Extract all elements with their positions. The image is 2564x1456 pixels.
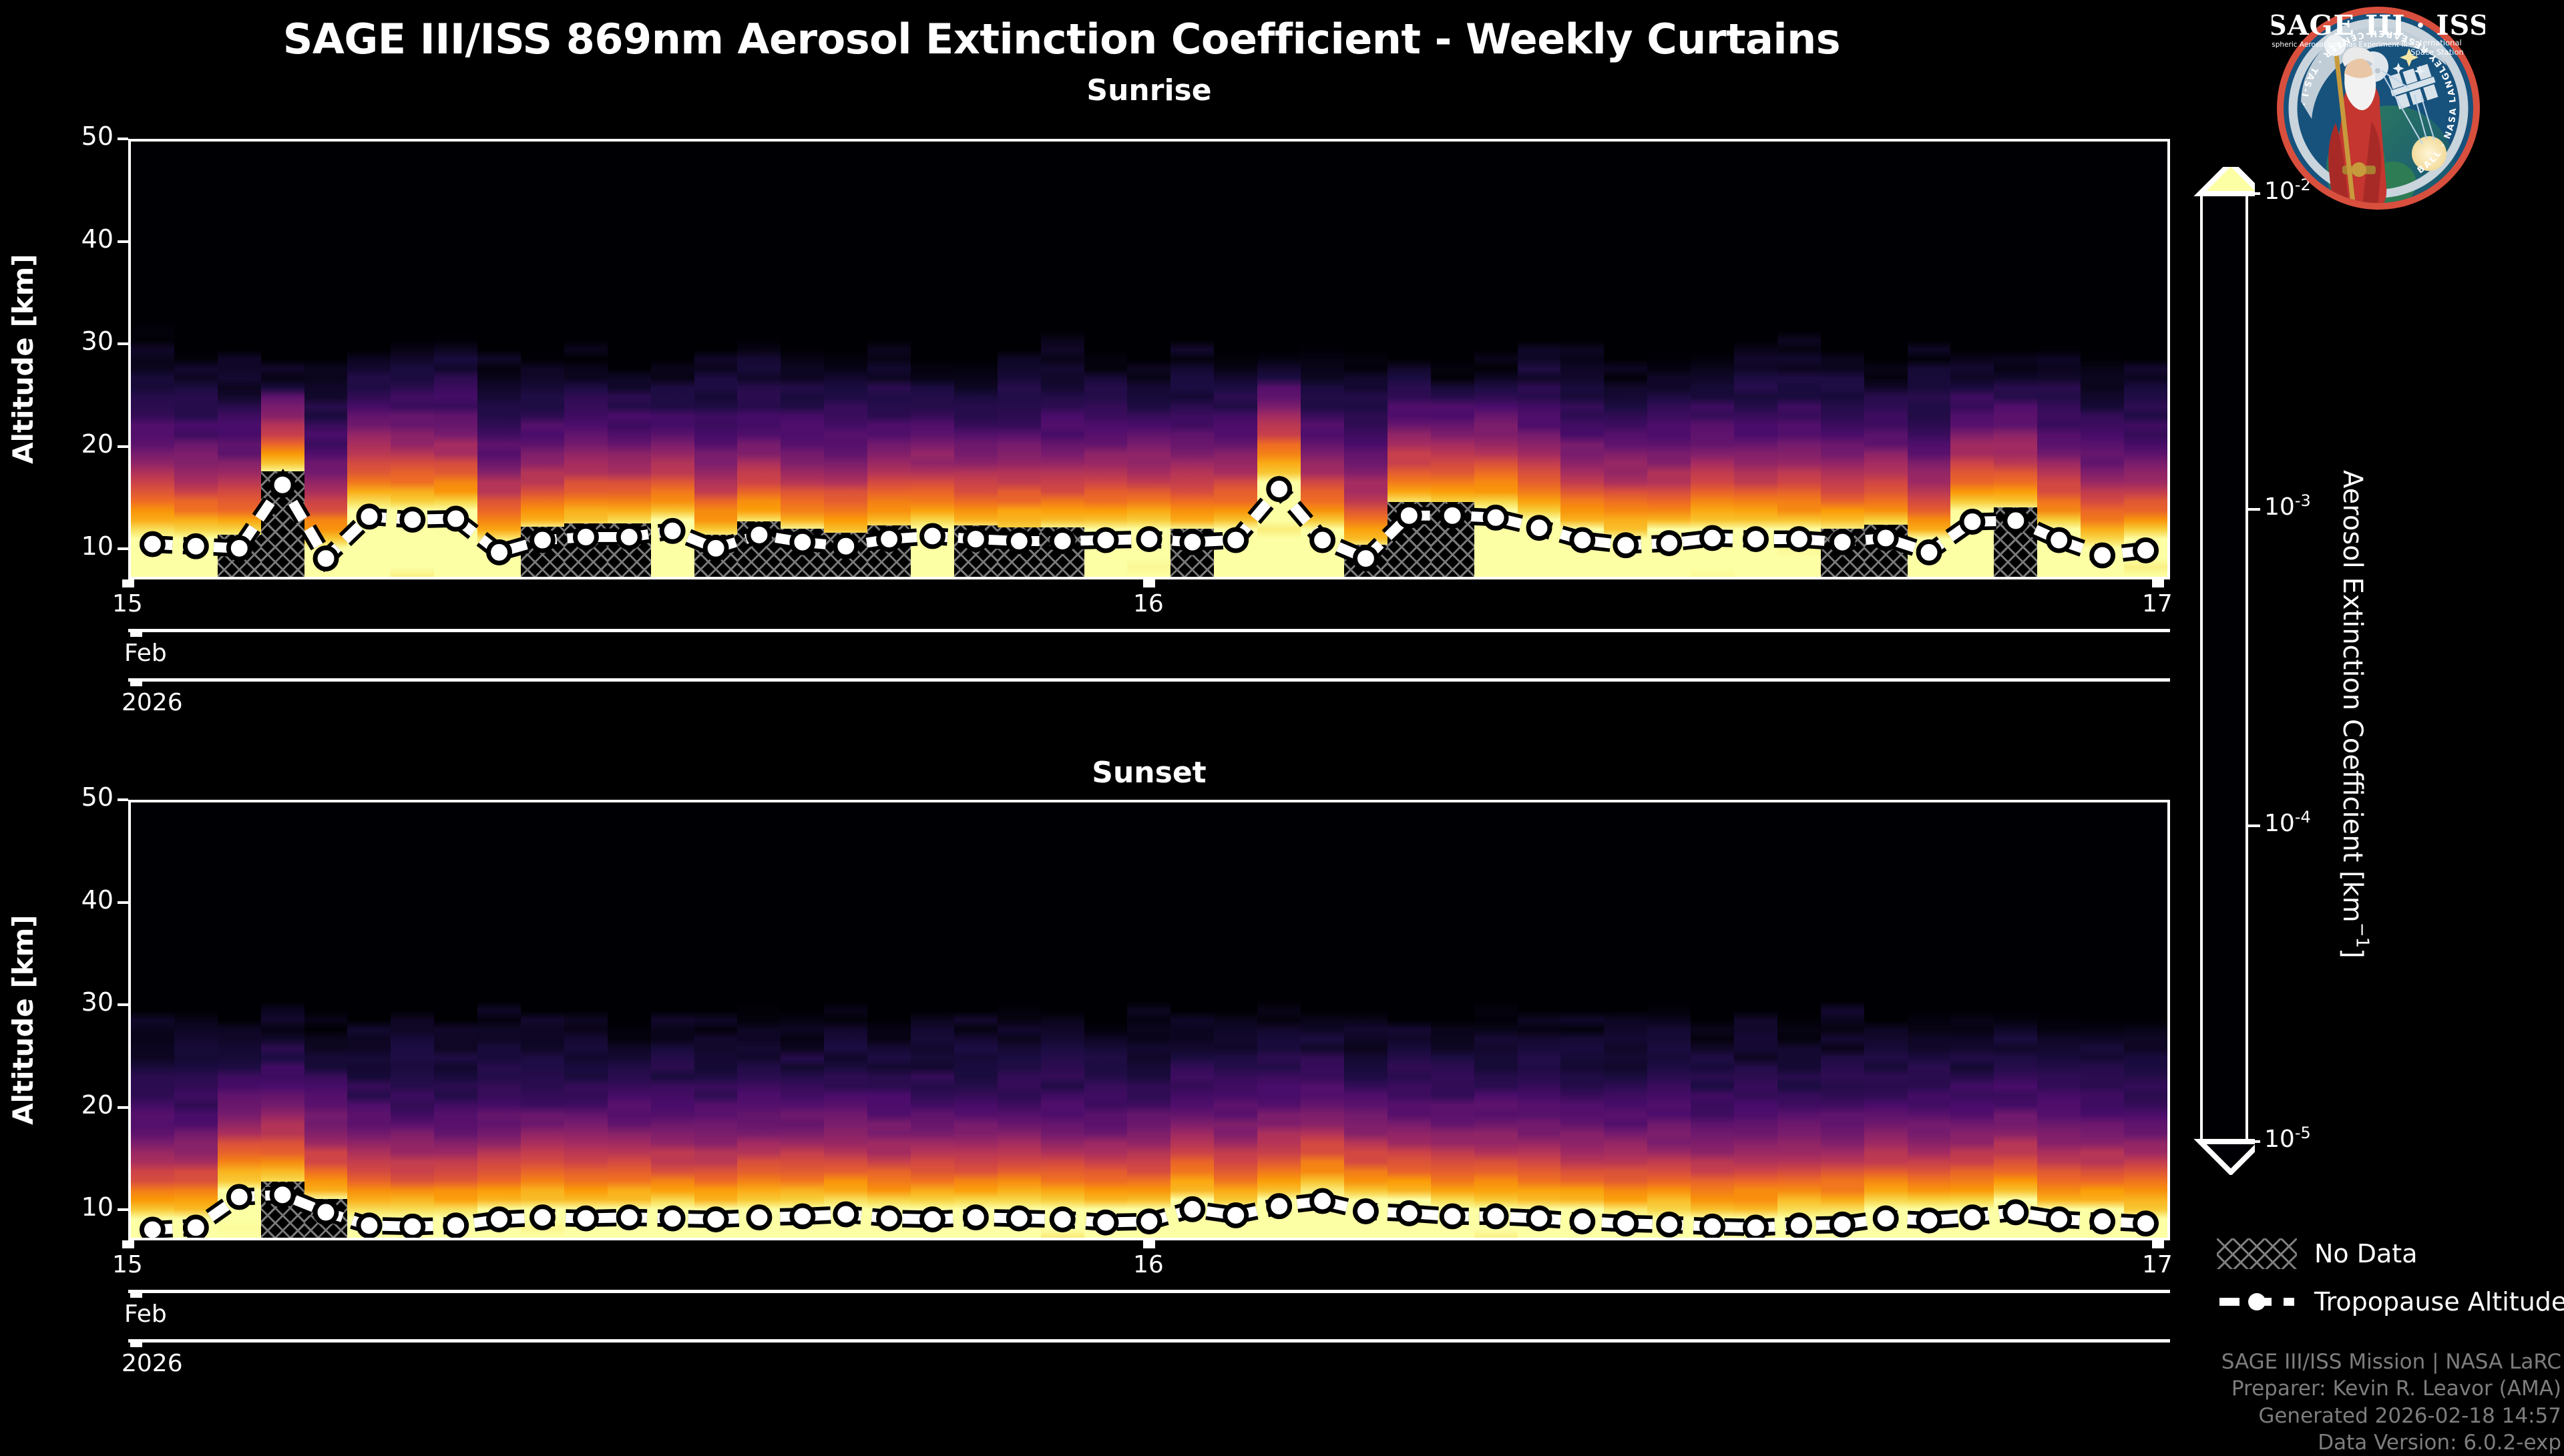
profile-column [694,802,738,1238]
sage-iii-iss-mission-patch-logo: BALL · NASA LANGLEY RESEARCH CENTER · TA… [2272,1,2485,215]
y-tick-mark [118,1003,128,1006]
y-tick-mark [118,1208,128,1211]
colorbar-tick-label: 10-4 [2264,808,2311,837]
profile-column [954,802,998,1238]
profile-column [781,142,824,577]
profile-column [477,142,521,577]
profile-column [1301,802,1344,1238]
profile-column [1518,142,1561,577]
page-title: SAGE III/ISS 869nm Aerosol Extinction Co… [0,15,2123,63]
profile-column [2081,802,2124,1238]
y-tick-label: 10 [33,531,114,561]
x-tick-mark [1143,579,1155,587]
colorbar-tick-mark [2248,192,2260,195]
profile-column [174,802,218,1238]
svg-text:International: International [2412,38,2461,47]
profile-column [1387,802,1431,1238]
profile-column [1864,142,1908,577]
profile-column [2124,802,2167,1238]
y-tick-label: 50 [33,782,114,812]
x-tick-mark-month [130,1290,142,1298]
y-axis-label-sunrise: Altitude [km] [7,139,40,579]
profile-column [1084,802,1128,1238]
y-tick-mark [118,798,128,801]
profile-column [1041,142,1084,577]
profile-column [2081,142,2124,577]
x-axis-rule-year [128,678,2170,682]
profile-column [477,802,521,1238]
profile-column [1864,802,1908,1238]
legend-item-tropopause[interactable]: Tropopause Altitude [2217,1286,2564,1317]
profile-column [434,142,477,577]
profile-column [1734,142,1777,577]
profile-column [521,802,564,1238]
profile-column [1560,142,1604,577]
x-tick-mark-month [130,629,142,637]
panel-title-sunset: Sunset [128,756,2170,790]
profile-column [1821,142,1864,577]
heatmap-sunrise [131,142,2167,577]
profile-column [1691,142,1734,577]
profile-column [1387,142,1431,577]
profile-column [1301,142,1344,577]
y-tick-mark [118,547,128,550]
profile-column [1127,142,1170,577]
profile-column [1214,802,1257,1238]
profile-column [1214,142,1257,577]
profile-column [954,142,998,577]
y-tick-label: 30 [33,987,114,1017]
profile-column [391,142,434,577]
profile-column [1257,802,1301,1238]
profile-column [1691,802,1734,1238]
profile-column [608,142,651,577]
x-axis-rule-year [128,1339,2170,1343]
profile-column [1257,142,1301,577]
profile-column [1474,802,1518,1238]
profile-column [1604,142,1647,577]
profile-column [1084,142,1128,577]
x-tick-label-day: 17 [2142,1251,2173,1278]
y-axis-label-sunset: Altitude [km] [7,800,40,1240]
x-tick-mark-year [130,1339,142,1347]
profile-column [1950,802,1994,1238]
patch-title-text: SAGE III · ISS [2272,9,2485,41]
profile-column [867,142,911,577]
svg-text:Stratospheric Aerosol and Gas: Stratospheric Aerosol and Gas Experiment… [2272,41,2408,49]
plot-area-sunrise[interactable] [128,139,2170,579]
profile-column [218,802,261,1238]
x-tick-label-day: 16 [1133,590,1164,618]
colorbar-extend-bottom [2200,1142,2255,1172]
profile-column [1647,802,1691,1238]
profile-column [998,802,1041,1238]
profile-column [391,802,434,1238]
y-tick-mark [118,138,128,140]
profile-column [737,142,781,577]
x-tick-label-year: 2026 [122,689,183,716]
x-tick-label-month: Feb [124,1300,167,1328]
profile-column [1170,802,1214,1238]
profile-column [911,802,954,1238]
no-data-hatch-icon [2217,1238,2297,1269]
y-tick-mark [118,342,128,345]
profile-column [1647,142,1691,577]
heatmap-sunset [131,802,2167,1238]
y-tick-label: 40 [33,885,114,915]
profile-column [737,802,781,1238]
profile-column [347,142,391,577]
x-tick-mark [122,579,134,587]
x-tick-label-year: 2026 [122,1350,183,1377]
profile-column [131,142,174,577]
footer-line-mission: SAGE III/ISS Mission | NASA LaRC [2221,1349,2561,1375]
profile-column [521,142,564,577]
legend-item-no-data[interactable]: No Data [2217,1238,2564,1269]
profile-column [174,142,218,577]
profile-column [304,142,348,577]
profile-column [781,802,824,1238]
profile-column [564,802,608,1238]
colorbar-tick-mark [2248,1140,2260,1143]
x-axis-rule-month [128,1290,2170,1293]
x-tick-label-day: 15 [112,1251,143,1278]
profile-column [1950,142,1994,577]
colorbar-extend-arrows [2193,167,2255,1175]
footer-line-version: Data Version: 6.0.2-exp [2221,1429,2561,1456]
y-tick-label: 20 [33,1090,114,1120]
y-tick-label: 50 [33,122,114,151]
colorbar-tick-label: 10-3 [2264,491,2311,521]
footer-line-preparer: Preparer: Kevin R. Leavor (AMA) [2221,1375,2561,1402]
plot-area-sunset[interactable] [128,800,2170,1240]
profile-column [1344,802,1387,1238]
profile-column [1734,802,1777,1238]
profile-column [2037,142,2081,577]
profile-column [608,802,651,1238]
profile-column [1777,802,1821,1238]
panel-title-sunrise: Sunrise [128,73,2170,107]
svg-text:SAGE III · ISS: SAGE III · ISS [2272,9,2485,41]
y-tick-label: 10 [33,1192,114,1222]
x-tick-mark [2152,579,2164,587]
profile-column [261,802,304,1238]
profile-column [694,142,738,577]
profile-column [911,142,954,577]
x-tick-mark [1143,1240,1155,1248]
colorbar-tick-mark [2248,824,2260,827]
profile-column [2124,142,2167,577]
profile-column [564,142,608,577]
mission-patch-svg: BALL · NASA LANGLEY RESEARCH CENTER · TA… [2272,1,2485,215]
figure-canvas: SAGE III/ISS 869nm Aerosol Extinction Co… [0,0,2564,1442]
colorbar-label: Aerosol Extinction Coefficient [km−1] [2337,347,2372,1081]
profile-column [1431,142,1474,577]
profile-column [261,142,304,577]
colorbar-tick-label: 10-5 [2264,1124,2311,1153]
profile-column [1908,802,1951,1238]
profile-column [218,142,261,577]
profile-column [2037,802,2081,1238]
profile-column [1821,802,1864,1238]
x-axis-rule-month [128,629,2170,632]
legend-label-tropopause: Tropopause Altitude [2314,1287,2564,1316]
profile-column [824,142,867,577]
profile-column [131,802,174,1238]
colorbar-tick-mark [2248,508,2260,511]
tropopause-line-icon [2217,1286,2297,1317]
x-tick-label-day: 15 [112,590,143,618]
profile-column [867,802,911,1238]
profile-column [1518,802,1561,1238]
y-tick-mark [118,1106,128,1109]
profile-column [1170,142,1214,577]
profile-column [1344,142,1387,577]
y-tick-mark [118,445,128,448]
legend: No Data Tropopause Altitude [2217,1238,2564,1334]
profile-column [1431,802,1474,1238]
profile-column [1560,802,1604,1238]
footer-line-generated: Generated 2026-02-18 14:57 [2221,1403,2561,1429]
profile-column [1604,802,1647,1238]
profile-column [824,802,867,1238]
x-tick-mark [122,1240,134,1248]
profile-column [1994,142,2037,577]
profile-column [1127,802,1170,1238]
x-tick-mark [2152,1240,2164,1248]
profile-column [1777,142,1821,577]
profile-column [1994,802,2037,1238]
profile-column [998,142,1041,577]
y-tick-mark [118,901,128,904]
y-tick-label: 20 [33,429,114,459]
x-tick-label-day: 16 [1133,1251,1164,1278]
colorbar-extend-top [2200,167,2255,194]
profile-column [651,802,694,1238]
profile-column [347,802,391,1238]
y-tick-label: 30 [33,326,114,356]
footer-credits: SAGE III/ISS Mission | NASA LaRC Prepare… [2221,1349,2561,1456]
x-tick-label-day: 17 [2142,590,2173,618]
profile-column [1041,802,1084,1238]
y-tick-mark [118,240,128,243]
profile-column [1908,142,1951,577]
svg-text:Space Station: Space Station [2410,47,2464,57]
x-tick-label-month: Feb [124,640,167,667]
profile-column [1474,142,1518,577]
y-tick-label: 40 [33,224,114,254]
profile-column [304,802,348,1238]
profile-column [651,142,694,577]
legend-label-no-data: No Data [2314,1239,2418,1268]
profile-column [434,802,477,1238]
x-tick-mark-year [130,678,142,686]
